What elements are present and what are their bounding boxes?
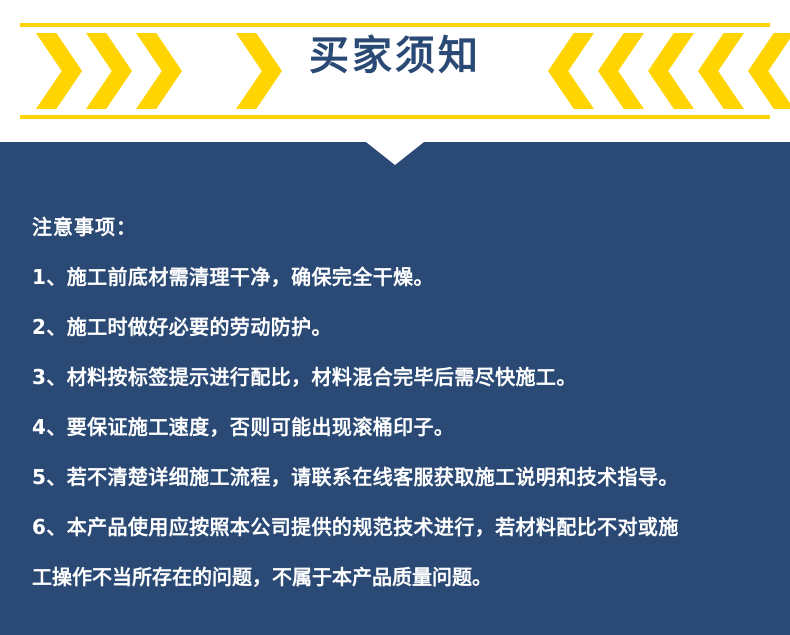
notice-panel: 注意事项： 1、施工前底材需清理干净，确保完全干燥。 2、施工时做好必要的劳动防… <box>0 142 790 635</box>
banner-top-rule <box>20 23 770 27</box>
notice-item: 3、材料按标签提示进行配比，材料混合完毕后需尽快施工。 <box>32 352 772 402</box>
panel-notch-triangle <box>366 142 424 165</box>
notice-item: 4、要保证施工速度，否则可能出现滚桶印子。 <box>32 402 772 452</box>
page-title: 买家须知 <box>0 36 790 76</box>
notice-item: 5、若不清楚详细施工流程，请联系在线客服获取施工说明和技术指导。 <box>32 452 772 502</box>
notice-item: 2、施工时做好必要的劳动防护。 <box>32 302 772 352</box>
banner-bottom-rule <box>20 115 770 119</box>
notice-heading: 注意事项： <box>32 202 772 252</box>
notice-item: 1、施工前底材需清理干净，确保完全干燥。 <box>32 252 772 302</box>
notice-item-continuation: 工操作不当所存在的问题，不属于本产品质量问题。 <box>32 552 772 602</box>
buyer-notice-page: 买家须知 注意事项： 1、施工前底材需清理干净，确保完全干燥。 2、施工时做好必… <box>0 0 790 635</box>
notice-item: 6、本产品使用应按照本公司提供的规范技术进行，若材料配比不对或施 <box>32 502 772 552</box>
banner-header: 买家须知 <box>0 0 790 142</box>
notice-list: 注意事项： 1、施工前底材需清理干净，确保完全干燥。 2、施工时做好必要的劳动防… <box>32 202 772 602</box>
